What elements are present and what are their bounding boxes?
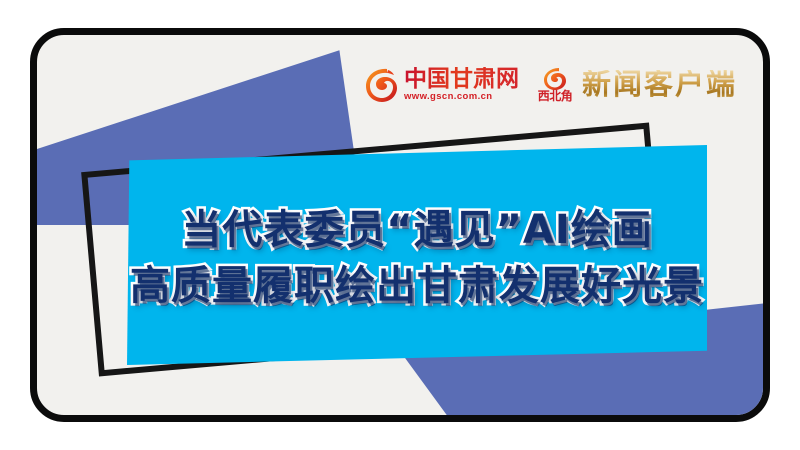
banner-text-container: 当代表委员“遇见”AI绘画 高质量履职绘出甘肃发展好光景 xyxy=(127,145,707,365)
flame-swirl-icon xyxy=(543,66,567,90)
logo-gansu-net-text: 中国甘肃网 www.gscn.com.cn xyxy=(404,67,519,102)
logo-gansu-net[interactable]: 中国甘肃网 www.gscn.com.cn xyxy=(364,65,519,103)
logo-news-app-mark: 西北角 xyxy=(535,66,575,102)
logo-gansu-net-name: 中国甘肃网 xyxy=(404,67,519,90)
logo-news-app-name: 新闻客户端 xyxy=(582,70,737,99)
headline-line-2: 高质量履职绘出甘肃发展好光景 xyxy=(130,266,704,306)
logo-news-app[interactable]: 西北角 新闻客户端 xyxy=(535,66,737,102)
banner-stage: 中国甘肃网 www.gscn.com.cn xyxy=(0,0,800,450)
logo-news-app-subname: 西北角 xyxy=(538,90,573,102)
logo-gansu-net-url: www.gscn.com.cn xyxy=(404,91,493,102)
banner-text-layer: 当代表委员“遇见”AI绘画 高质量履职绘出甘肃发展好光景 xyxy=(127,145,707,365)
flame-swirl-icon xyxy=(364,65,398,103)
headline-line-1: 当代表委员“遇见”AI绘画 xyxy=(181,210,652,250)
logo-bar: 中国甘肃网 www.gscn.com.cn xyxy=(364,65,737,103)
rounded-card-frame: 中国甘肃网 www.gscn.com.cn xyxy=(30,28,770,422)
